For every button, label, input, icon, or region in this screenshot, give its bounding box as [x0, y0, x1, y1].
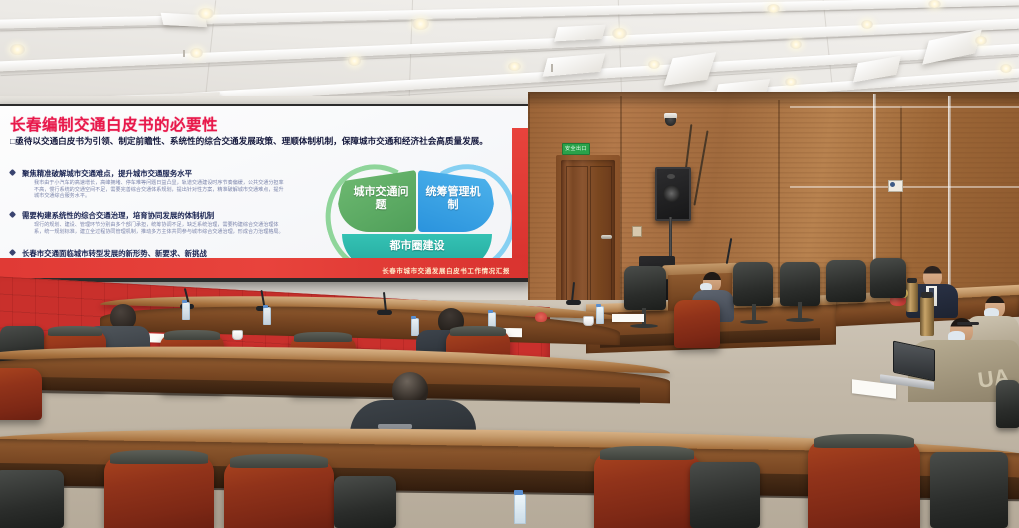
mahogany-chair[interactable]	[674, 300, 720, 348]
cycle-label-blue: 统筹管理机制	[424, 186, 482, 212]
eyeglasses-icon	[957, 322, 979, 325]
water-bottle[interactable]	[411, 318, 419, 336]
slide-lead-paragraph: □亟待以交通白皮书为引领、制定前瞻性、系统性的综合交通发展政策、理顺体制机制，保…	[10, 136, 510, 147]
ceiling-downlight	[190, 48, 203, 58]
bottle-cap	[514, 490, 523, 495]
tea-cup[interactable]	[232, 330, 243, 340]
slide-title: 长春编制交通白皮书的必要性	[10, 113, 218, 135]
sprinkler-drop	[551, 64, 553, 72]
ceiling-downlight	[612, 28, 627, 39]
slide-red-corner	[512, 128, 528, 258]
ceiling-downlight	[861, 20, 873, 29]
wall-seam	[620, 96, 622, 310]
bottle-cap	[411, 316, 416, 319]
mahogany-chair[interactable]	[808, 440, 920, 528]
water-bottle[interactable]	[182, 302, 190, 320]
chair-headrest	[164, 330, 220, 340]
wall-seam	[528, 94, 530, 310]
chair-headrest	[230, 454, 328, 468]
conference-room-photo: 长春编制交通白皮书的必要性 □亟待以交通白皮书为引领、制定前瞻性、系统性的综合交…	[0, 0, 1019, 528]
ceiling-downlight	[508, 62, 521, 71]
ceiling-downlight	[975, 36, 987, 45]
slide-bullet-heading-1: 聚焦精准破解城市交通难点，提升城市交通服务水平	[22, 168, 192, 179]
office-chair[interactable]	[733, 262, 773, 306]
slide-bullet-body-2: 现行的规划、建设、管理环节分别由多个部门承担，统筹协调不足，缺乏系统治理，需要构…	[34, 222, 284, 235]
cycle-label-green: 城市交通问题	[352, 186, 410, 212]
chair-headrest	[110, 450, 208, 464]
chair-base	[740, 320, 768, 324]
chair-headrest	[48, 326, 102, 336]
ceiling-downlight	[348, 56, 361, 66]
glass-mullion	[948, 96, 951, 312]
office-chair[interactable]	[334, 476, 396, 528]
door-handle[interactable]	[601, 235, 612, 239]
office-chair[interactable]	[996, 380, 1019, 428]
office-chair[interactable]	[690, 462, 760, 528]
document-paper[interactable]	[612, 314, 644, 322]
exit-sign-label: 安全出口	[563, 144, 589, 154]
microphone-base	[566, 300, 581, 305]
mahogany-chair[interactable]	[594, 452, 700, 528]
water-bottle[interactable]	[514, 494, 526, 524]
chair-headrest	[814, 434, 914, 448]
office-chair[interactable]	[780, 262, 820, 306]
chair-headrest	[450, 326, 506, 336]
sprinkler-drop	[183, 50, 185, 57]
ceiling-downlight	[10, 44, 25, 55]
wall-plaque-emblem-icon	[890, 182, 895, 187]
office-chair[interactable]	[826, 260, 866, 302]
glass-rail	[790, 106, 1019, 108]
flower-arrangement	[535, 312, 547, 322]
thermos-cap	[921, 292, 933, 298]
mahogany-chair[interactable]	[104, 456, 214, 528]
slide-bullet-body-1: 我市由于小汽车的高速增长，高峰拥堵、停车难等问题日益凸显，轨道交通建设时序节奏偏…	[34, 180, 284, 200]
projection-screen[interactable]: 长春编制交通白皮书的必要性 □亟待以交通白皮书为引领、制定前瞻性、系统性的综合交…	[0, 106, 528, 278]
chair-headrest	[294, 332, 352, 342]
bottle-cap	[263, 305, 268, 308]
ceiling-downlight	[785, 78, 797, 86]
door-panel	[590, 166, 612, 302]
water-bottle[interactable]	[596, 306, 604, 324]
office-chair[interactable]	[870, 258, 906, 298]
wall-socket[interactable]	[632, 226, 642, 237]
cycle-label-teal: 都市圈建设	[368, 240, 466, 253]
slide-bullet-heading-2: 需要构建系统性的综合交通治理，培育协同发展的体制机制	[22, 210, 214, 221]
ceiling-downlight	[1000, 64, 1012, 73]
exit-sign: 安全出口	[562, 143, 590, 155]
ceiling-downlight	[767, 4, 780, 13]
ac-diffuser	[554, 25, 606, 42]
chair-headrest	[600, 446, 694, 460]
water-bottle[interactable]	[263, 307, 271, 325]
bottle-cap	[488, 310, 493, 313]
speaker-woofer	[663, 185, 680, 202]
slide-red-footer-bar: 长春市城市交通发展白皮书工作情况汇报	[0, 258, 528, 278]
ceiling-downlight	[412, 18, 429, 30]
thermos-flask[interactable]	[906, 282, 918, 312]
office-chair[interactable]	[930, 452, 1008, 528]
bottle-cap	[596, 304, 601, 307]
office-chair[interactable]	[0, 470, 64, 528]
office-chair[interactable]	[624, 266, 666, 310]
slide-footer-text: 长春市城市交通发展白皮书工作情况汇报	[382, 265, 510, 275]
glass-rail	[790, 186, 1019, 188]
chair-base	[630, 324, 658, 328]
ceiling-downlight	[198, 8, 214, 19]
microphone-base	[377, 310, 392, 315]
mahogany-chair[interactable]	[0, 368, 42, 420]
thermos-flask[interactable]	[920, 296, 934, 336]
thermos-cap	[907, 278, 917, 283]
tea-cup[interactable]	[583, 316, 594, 326]
door-panel	[566, 166, 588, 302]
ceiling-downlight	[648, 60, 660, 69]
chair-base	[786, 318, 814, 322]
ceiling-downlight	[928, 0, 941, 8]
mahogany-chair[interactable]	[224, 460, 334, 528]
bottle-cap	[182, 300, 187, 303]
ceiling-downlight	[790, 40, 802, 49]
speaker-tweeter	[667, 174, 675, 179]
